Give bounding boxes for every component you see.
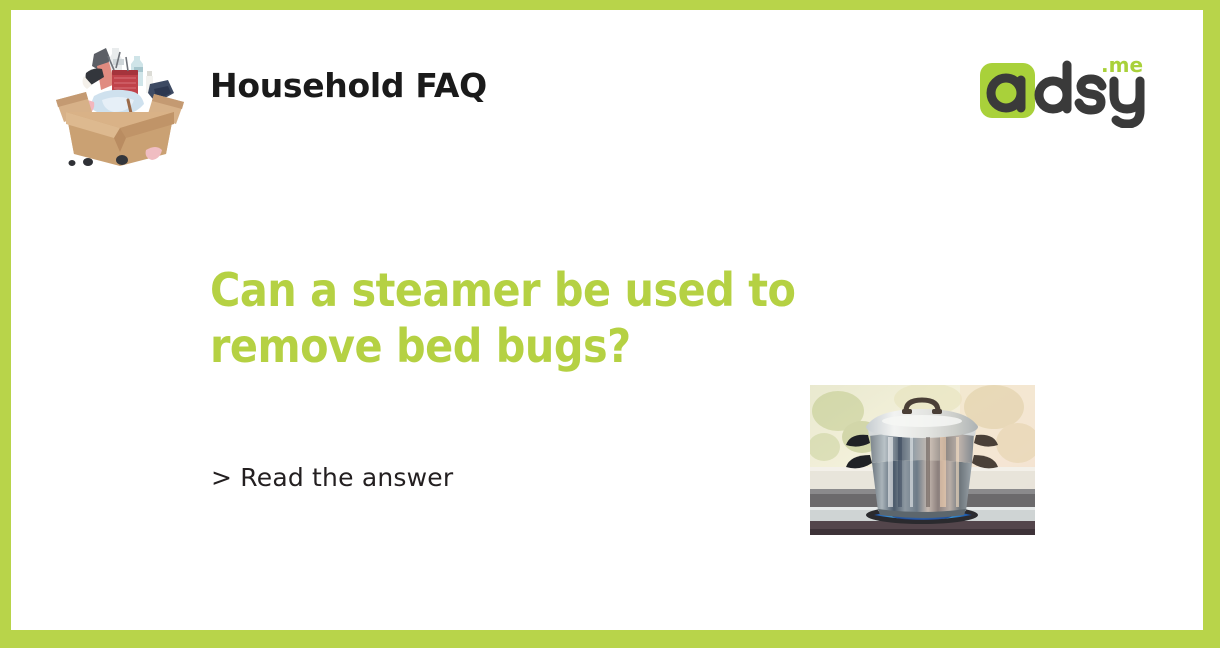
adsy-logo[interactable]: .me <box>980 50 1145 128</box>
frame-border-right <box>1203 0 1220 648</box>
frame-border-left <box>0 0 11 648</box>
logo-tld-text: .me <box>1101 53 1143 77</box>
frame-border-bottom <box>0 630 1220 648</box>
frame-border-top <box>0 0 1220 10</box>
cardboard-box-household-items-icon <box>50 26 190 166</box>
card-header: Household FAQ <box>11 10 1203 160</box>
headline: Can a steamer be used to remove bed bugs… <box>210 262 940 374</box>
page-title: Household FAQ <box>210 66 487 105</box>
faq-promo-card: Household FAQ <box>0 0 1220 648</box>
steamer-pot-photo[interactable] <box>810 385 1035 535</box>
read-the-answer-link[interactable]: > Read the answer <box>211 463 453 492</box>
